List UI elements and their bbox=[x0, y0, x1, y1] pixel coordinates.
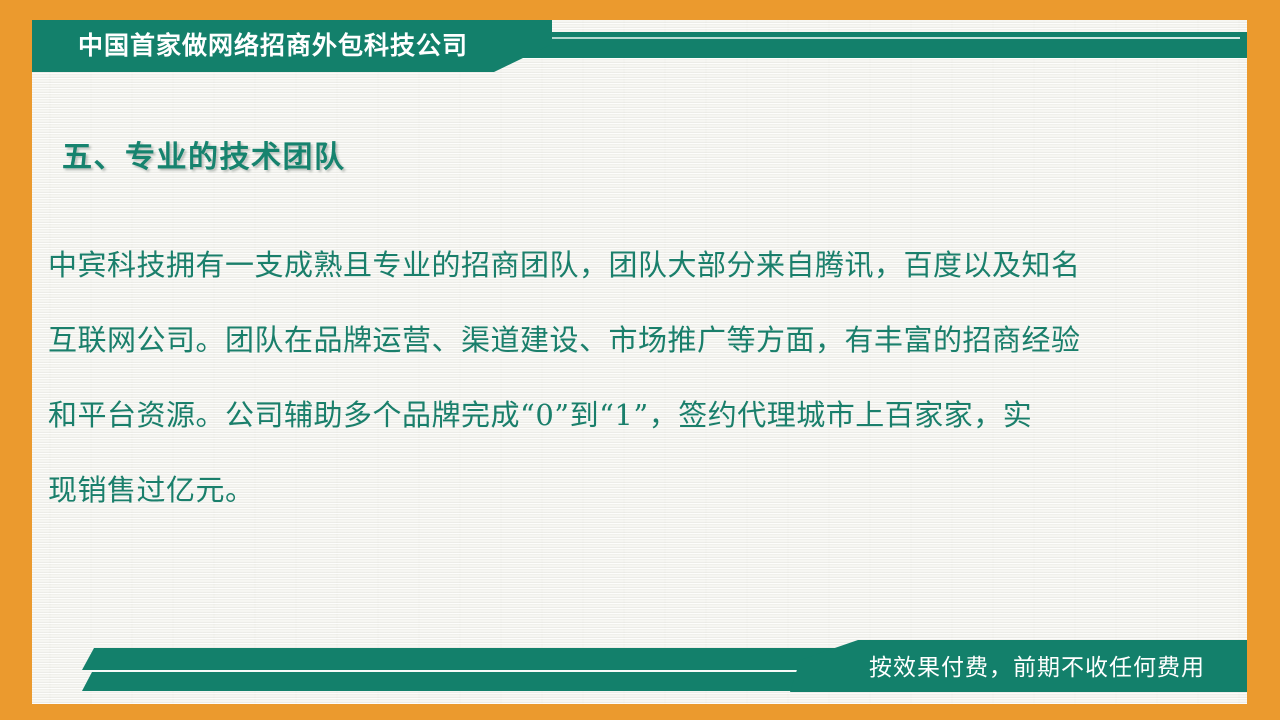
body-paragraph: 中宾科技拥有一支成熟且专业的招商团队，团队大部分来自腾讯，百度以及知名 互联网公… bbox=[48, 228, 1183, 528]
footer-tagline: 按效果付费，前期不收任何费用 bbox=[869, 640, 1205, 692]
footer-band: 按效果付费，前期不收任何费用 bbox=[32, 640, 1247, 704]
slide-root: 中国首家做网络招商外包科技公司 五、专业的技术团队 中宾科技拥有一支成熟且专业的… bbox=[0, 0, 1280, 720]
header-title: 中国首家做网络招商外包科技公司 bbox=[78, 20, 468, 72]
header-band: 中国首家做网络招商外包科技公司 bbox=[32, 20, 1247, 72]
section-heading: 五、专业的技术团队 bbox=[62, 132, 346, 176]
paragraph-line: 中宾科技拥有一支成熟且专业的招商团队，团队大部分来自腾讯，百度以及知名 bbox=[48, 228, 1183, 303]
paragraph-line: 现销售过亿元。 bbox=[48, 453, 1183, 528]
paragraph-line: 和平台资源。公司辅助多个品牌完成“0”到“1”，签约代理城市上百家家，实 bbox=[48, 378, 1183, 453]
paragraph-line: 互联网公司。团队在品牌运营、渠道建设、市场推广等方面，有丰富的招商经验 bbox=[48, 303, 1183, 378]
